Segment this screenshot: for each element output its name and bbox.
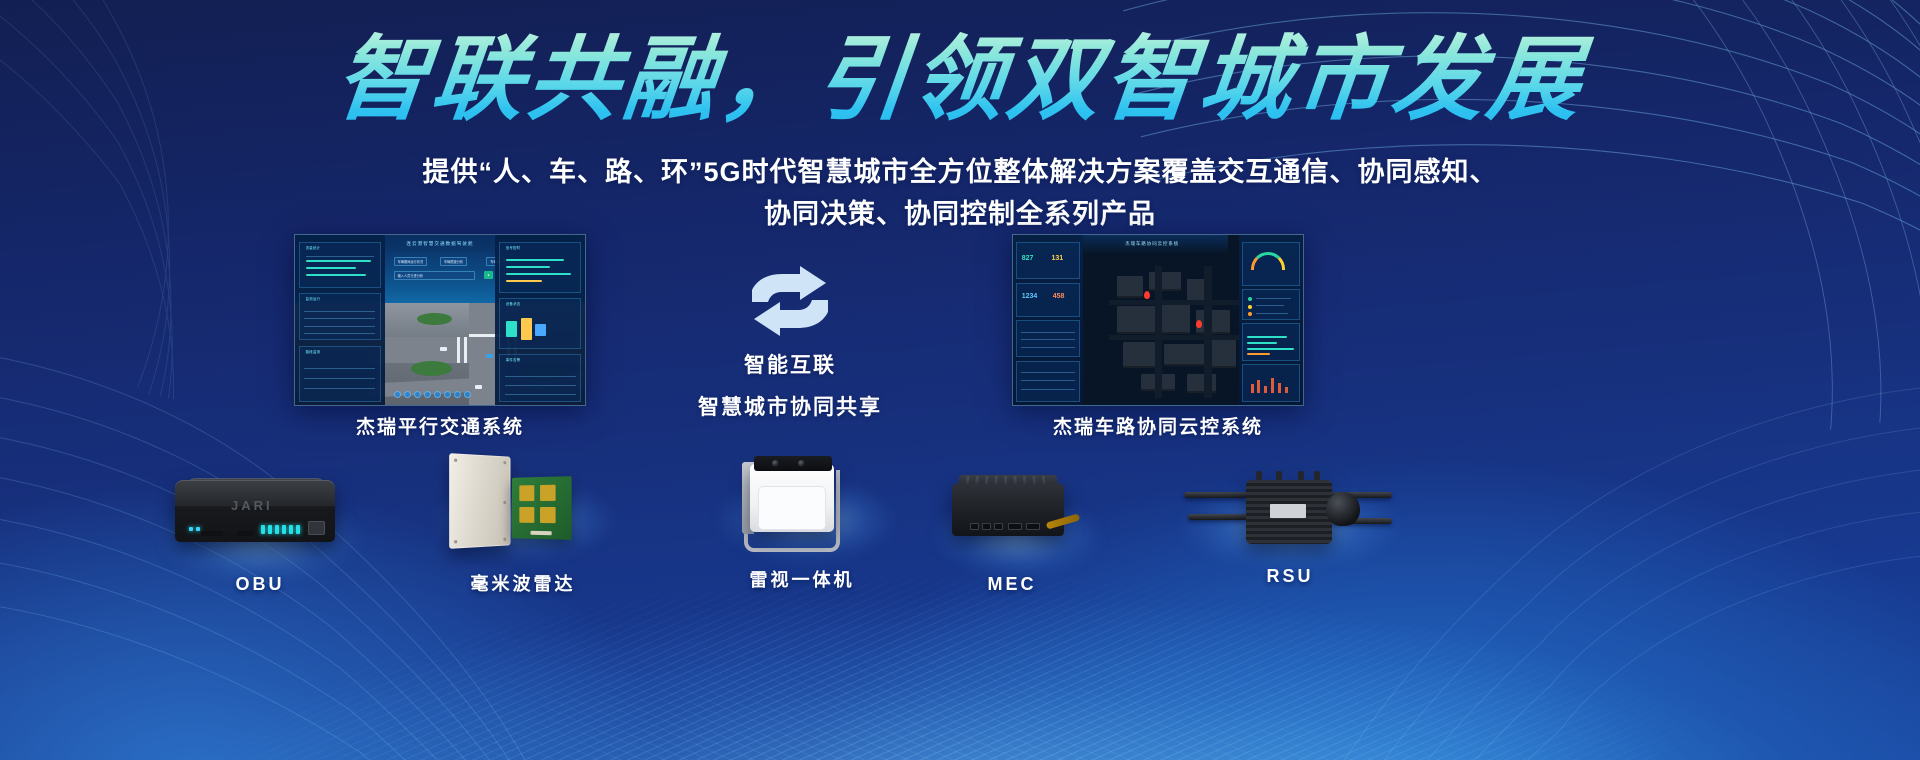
tool-icon-6[interactable] (444, 391, 451, 398)
obu-device-icon: JARI (175, 470, 345, 560)
screen-caption-right: 杰瑞车路协同云控系统 (1012, 412, 1304, 439)
obu-brand-label: JARI (231, 498, 273, 513)
callout-line-1: 智能互联 (686, 350, 894, 382)
product-radar[interactable]: 毫米波雷达 (448, 455, 598, 596)
map-marker[interactable] (1196, 320, 1202, 328)
panel-legend (1242, 289, 1301, 320)
tool-icon-8[interactable] (464, 391, 471, 398)
panel-segment-monitor: 路段监测 (299, 346, 382, 402)
dashboard-header-title: 杰瑞车路协同云控系统 (1077, 235, 1228, 254)
page-title: 智联共融，引领双智城市发展 (0, 28, 1920, 131)
panel-spark (1242, 364, 1301, 401)
dashboard-header-title: 连云港智慧交通数据驾驶舱 (385, 235, 495, 254)
panel-title: 事件告警 (506, 357, 521, 362)
panel-flow-stats: 流量统计 (299, 242, 382, 288)
vehicle (440, 347, 447, 351)
screen-caption-left: 杰瑞平行交通系统 (294, 412, 586, 439)
panel-title: 监测运行 (306, 296, 321, 301)
panel-signal-timing: 信号配时 (499, 242, 582, 293)
tool-icon-1[interactable] (394, 391, 401, 398)
subtitle-line-1: 提供“人、车、路、环”5G时代智慧城市全方位整体解决方案覆盖交互通信、协同感知、 (0, 152, 1920, 194)
map-tool-icons[interactable] (394, 391, 471, 398)
tool-icon-3[interactable] (414, 391, 421, 398)
parallel-traffic-dashboard: 连云港智慧交通数据驾驶舱 车辆期间运行状况 车辆限速分析 车辆通行效率 输入人员… (294, 234, 586, 406)
tool-icon-2[interactable] (404, 391, 411, 398)
page-subtitle: 提供“人、车、路、环”5G时代智慧城市全方位整体解决方案覆盖交互通信、协同感知、… (0, 152, 1920, 236)
right-metrics-panel: 信号配时 设备状态 事件告警 (495, 235, 585, 405)
callout-line-2: 智慧城市协同共享 (686, 392, 894, 424)
panel-title: 流量统计 (306, 245, 321, 250)
panel-list-b (1016, 361, 1080, 402)
panel-list-a (1016, 320, 1080, 357)
product-label-mec: MEC (952, 574, 1072, 595)
cloud-control-dashboard: 杰瑞车路协同云控系统 827 131 1234 458 (1012, 234, 1304, 406)
product-radar-camera[interactable]: 雷视一体机 (742, 448, 862, 592)
left-metrics-panel: 流量统计 监测运行 路段监测 (295, 235, 385, 405)
interconnect-callout: 智能互联 智慧城市协同共享 (686, 264, 894, 423)
left-metrics-panel: 827 131 1234 458 (1013, 235, 1083, 405)
vehicle (486, 354, 493, 358)
tool-icon-7[interactable] (454, 391, 461, 398)
screenshot-parallel-traffic-system[interactable]: 连云港智慧交通数据驾驶舱 车辆期间运行状况 车辆限速分析 车辆通行效率 输入人员… (294, 234, 586, 406)
panel-title: 设备状态 (506, 301, 521, 306)
screenshot-cloud-control-system[interactable]: 杰瑞车路协同云控系统 827 131 1234 458 (1012, 234, 1304, 406)
panel-bars (1242, 323, 1301, 360)
panel-kpi: 827 131 (1016, 242, 1080, 279)
vehicle (475, 385, 482, 389)
tool-icon-4[interactable] (424, 391, 431, 398)
dashboard-search-input[interactable]: 输入人员行进分析 (394, 271, 475, 280)
panel-event-alarm: 事件告警 (499, 354, 582, 402)
median-grass-c (417, 313, 452, 325)
panel-title: 信号配时 (506, 245, 521, 250)
kpi-value-1: 827 (1022, 255, 1034, 262)
kpi-value-4: 458 (1053, 293, 1065, 300)
panel-title: 路段监测 (306, 349, 321, 354)
radar-camera-unit-icon (742, 448, 862, 560)
median-grass-a (411, 361, 452, 376)
map-marker[interactable] (1144, 291, 1150, 299)
panel-gauge (1242, 242, 1301, 286)
panel-operation-monitor: 监测运行 (299, 293, 382, 341)
exchange-arrows-icon (742, 264, 838, 340)
millimeter-wave-radar-icon (448, 455, 598, 560)
kpi-value-3: 1234 (1022, 293, 1038, 300)
product-label-radar: 毫米波雷达 (448, 570, 598, 596)
promo-banner: 智联共融，引领双智城市发展 提供“人、车、路、环”5G时代智慧城市全方位整体解决… (0, 0, 1920, 760)
chip-vehicle-status[interactable]: 车辆期间运行状况 (394, 257, 428, 266)
panel-device-status: 设备状态 (499, 298, 582, 349)
crosswalk-a (457, 337, 469, 363)
toggle-live[interactable]: ● (484, 271, 494, 279)
product-obu[interactable]: JARI OBU (175, 470, 345, 595)
panel-kpi-2: 1234 458 (1016, 283, 1080, 317)
product-mec[interactable]: MEC (952, 468, 1072, 595)
right-metrics-panel (1239, 235, 1303, 405)
chip-speed-analysis[interactable]: 车辆限速分析 (440, 257, 467, 266)
mec-edge-computer-icon (952, 468, 1072, 558)
rsu-roadside-unit-icon (1190, 462, 1390, 558)
kpi-value-2: 131 (1052, 255, 1064, 262)
tool-icon-5[interactable] (434, 391, 441, 398)
product-rsu[interactable]: RSU (1190, 462, 1390, 587)
product-label-radar-camera: 雷视一体机 (742, 566, 862, 592)
subtitle-line-2: 协同决策、协同控制全系列产品 (0, 194, 1920, 236)
